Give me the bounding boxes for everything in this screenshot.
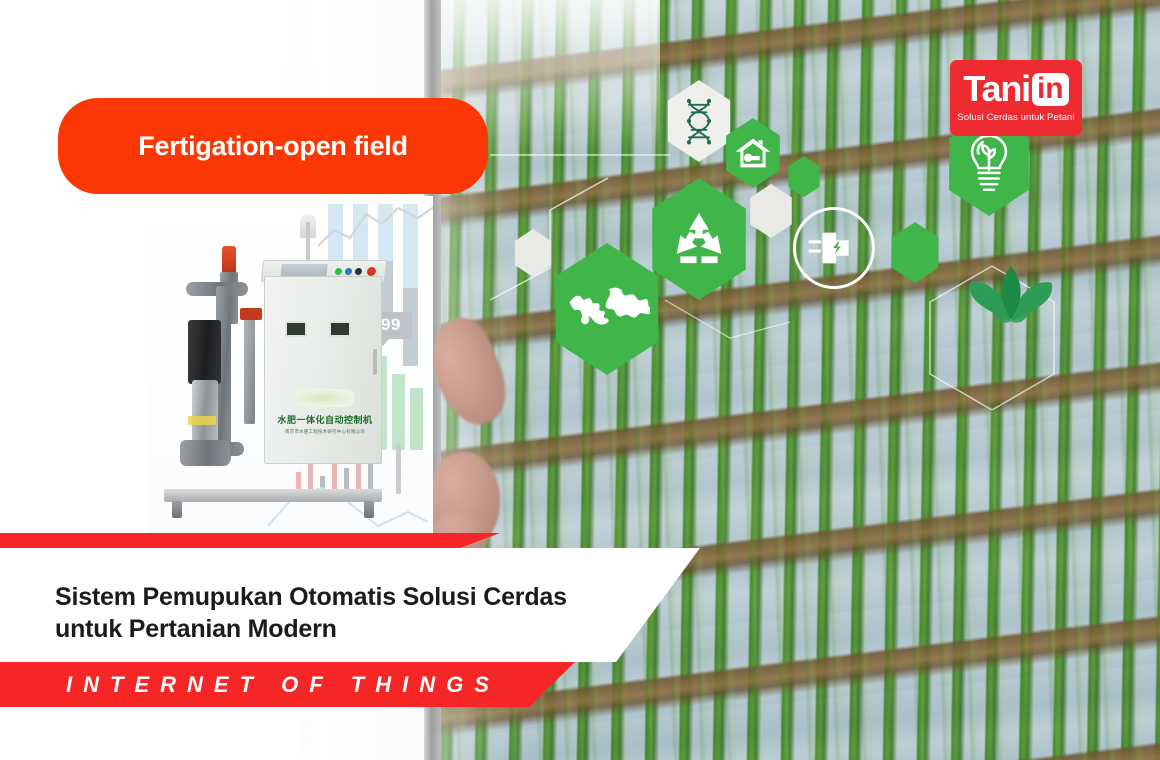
power-plug-icon: [793, 207, 875, 289]
logo-text-in: in: [1037, 72, 1064, 105]
product-photo-panel: 199: [148, 196, 433, 541]
logo-text-tani: Tani: [963, 71, 1030, 107]
machine-red-valve-cap: [222, 246, 236, 274]
headline-line-2: untuk Pertanian Modern: [55, 613, 635, 645]
machine-label-chinese: 水肥一体化自动控制机: [277, 413, 373, 426]
banner-canvas: 199: [0, 0, 1160, 760]
title-banner-pill[interactable]: Fertigation-open field: [58, 98, 488, 194]
category-bar-label: INTERNET OF THINGS: [66, 672, 500, 698]
headline-text: Sistem Pemupukan Otomatis Solusi Cerdas …: [55, 581, 635, 645]
white-bottom-area: [0, 707, 300, 760]
taniin-logo[interactable]: Tani in Solusi Cerdas untuk Petani: [950, 60, 1082, 136]
machine-pump-motor: [188, 320, 221, 384]
machine-sublabel-chinese: 南京市水肥工程技术研究中心有限公司: [283, 429, 367, 435]
logo-in-badge: in: [1032, 73, 1069, 106]
logo-wordmark: Tani in: [963, 71, 1068, 107]
title-banner-label: Fertigation-open field: [138, 131, 407, 162]
headline-line-1: Sistem Pemupukan Otomatis Solusi Cerdas: [55, 581, 635, 613]
machine-brand-plate: [291, 389, 355, 407]
leaf-plant-icon: [965, 255, 1057, 325]
category-bar: INTERNET OF THINGS: [0, 662, 575, 707]
logo-tagline: Solusi Cerdas untuk Petani: [957, 112, 1074, 123]
fertigation-machine-photo: 水肥一体化自动控制机 南京市水肥工程技术研究中心有限公司: [158, 220, 418, 520]
machine-antenna: [306, 222, 310, 262]
machine-cabinet: 水肥一体化自动控制机 南京市水肥工程技术研究中心有限公司: [264, 276, 382, 464]
machine-base-frame: [164, 489, 382, 502]
machine-pump-body: [192, 380, 218, 442]
red-accent-strip-top: [0, 533, 500, 548]
